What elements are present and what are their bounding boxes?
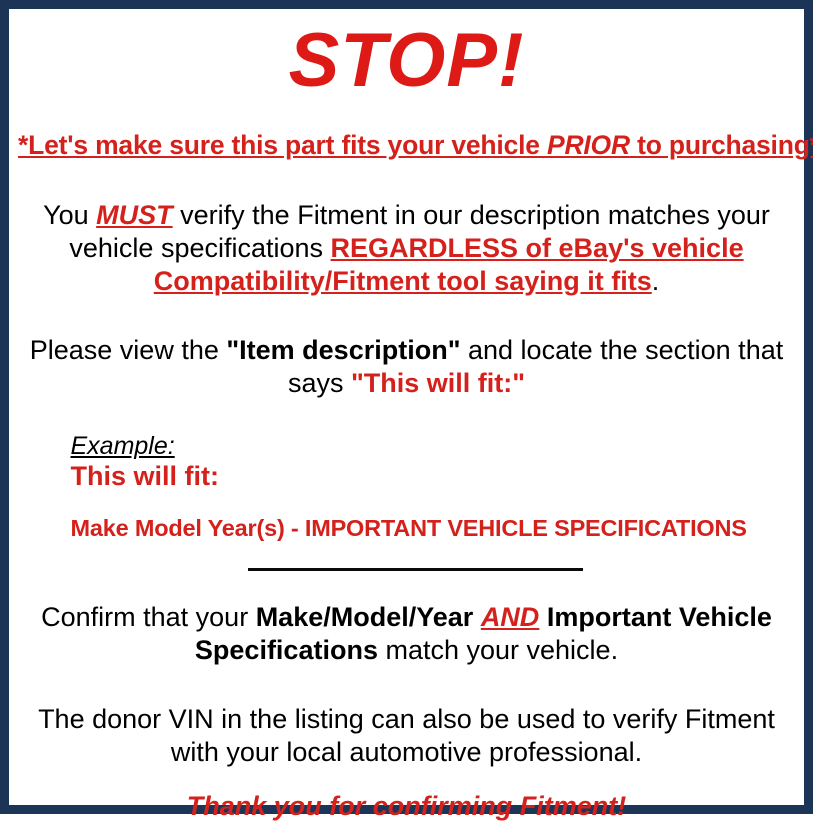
item-description-emphasis: "Item description" bbox=[226, 335, 460, 365]
and-emphasis: AND bbox=[481, 602, 540, 632]
confirm-text-2: match your vehicle. bbox=[378, 635, 618, 665]
must-text-1: You bbox=[43, 200, 96, 230]
confirm-space-2 bbox=[539, 602, 547, 632]
example-block: Example: This will fit: Make Model Year(… bbox=[29, 432, 785, 543]
must-text-3: . bbox=[652, 266, 660, 296]
make-model-year-emphasis: Make/Model/Year bbox=[256, 602, 474, 632]
example-label: Example: bbox=[71, 432, 175, 461]
confirm-space-1 bbox=[473, 602, 481, 632]
tagline: *Let's make sure this part fits your veh… bbox=[18, 130, 795, 161]
notice-content: STOP! *Let's make sure this part fits yo… bbox=[9, 9, 804, 805]
example-fit-header: This will fit: bbox=[71, 461, 785, 492]
page-title: STOP! bbox=[18, 23, 795, 99]
paragraph-must: You MUST verify the Fitment in our descr… bbox=[29, 199, 785, 298]
must-emphasis: MUST bbox=[96, 200, 173, 230]
section-divider bbox=[248, 568, 583, 571]
tagline-before: *Let's make sure this part fits your veh… bbox=[18, 130, 547, 160]
paragraph-confirm: Confirm that your Make/Model/Year AND Im… bbox=[29, 601, 785, 667]
view-text-1: Please view the bbox=[30, 335, 227, 365]
paragraph-vin: The donor VIN in the listing can also be… bbox=[29, 703, 785, 769]
this-will-fit-emphasis: "This will fit:" bbox=[351, 368, 525, 398]
confirm-wrap: Confirm that your Make/Model/Year AND Im… bbox=[29, 601, 785, 667]
example-spec-line: Make Model Year(s) - IMPORTANT VEHICLE S… bbox=[71, 515, 785, 542]
fitment-notice-card: STOP! *Let's make sure this part fits yo… bbox=[0, 0, 813, 814]
tagline-after: to purchasing* bbox=[630, 130, 813, 160]
thanks-message: Thank you for confirming Fitment! bbox=[29, 791, 785, 822]
confirm-text-1: Confirm that your bbox=[41, 602, 256, 632]
paragraph-view: Please view the "Item description" and l… bbox=[29, 334, 785, 400]
tagline-emphasis: PRIOR bbox=[547, 130, 630, 160]
divider-wrap bbox=[29, 568, 785, 571]
